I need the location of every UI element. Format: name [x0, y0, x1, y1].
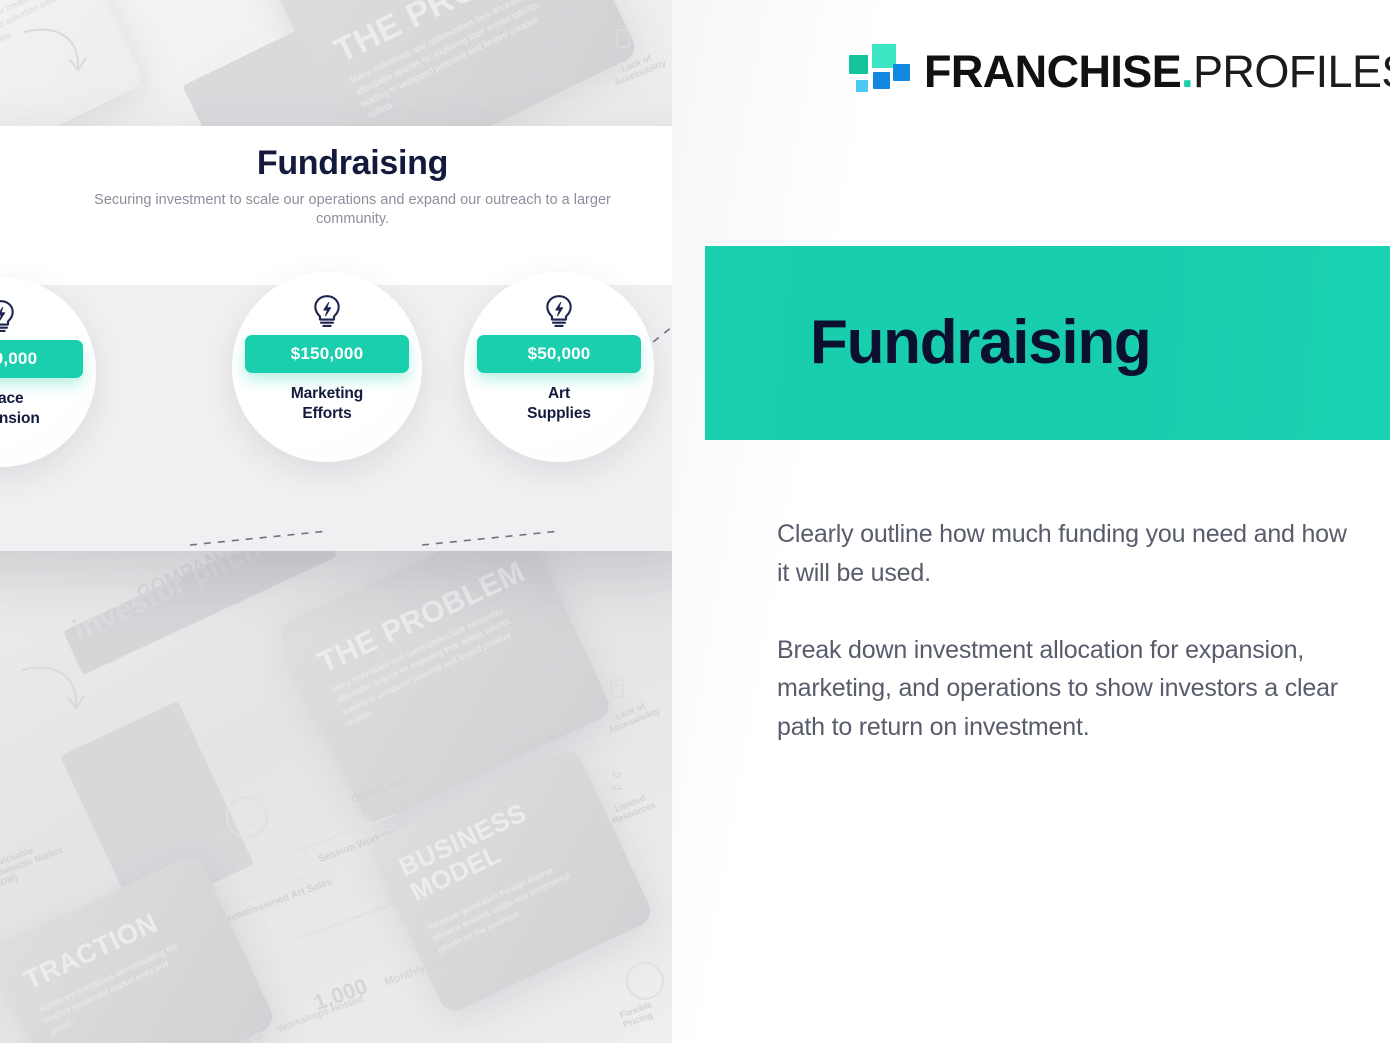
left-visual-panel: THE PROBLEM Many individuals and communi… — [0, 0, 672, 1043]
funding-label-line2: Expansion — [0, 410, 40, 427]
background-label: Serviceable Obtainable Market (SOM) — [0, 832, 78, 891]
funding-node[interactable]: $50,000 Art Supplies — [464, 272, 654, 462]
metric-label: Workshops Hosted — [276, 994, 365, 1035]
lightbulb-bolt-icon — [0, 299, 16, 333]
curved-arrow-icon — [18, 660, 88, 720]
funding-label-line1: Marketing — [291, 385, 363, 402]
accessibility-icon — [606, 678, 628, 705]
funding-amount: $50,000 — [477, 335, 641, 373]
page-title: Fundraising — [810, 312, 1150, 374]
brand-wordmark: FRANCHISE.PROFILES — [924, 49, 1390, 94]
funding-label-line1: Space — [0, 390, 24, 407]
background-divider — [299, 899, 403, 939]
slide-preview-stage: THE PROBLEM Many individuals and communi… — [0, 0, 1390, 1043]
node-row: $150,000 Space Expansion — [0, 126, 672, 551]
funding-label-line2: Efforts — [302, 405, 351, 422]
lightbulb-bolt-icon — [312, 294, 342, 328]
paragraph-1: Clearly outline how much funding you nee… — [777, 515, 1357, 593]
funding-label-line1: Art — [548, 385, 570, 402]
funding-label-line2: Supplies — [527, 405, 591, 422]
right-content-panel: FRANCHISE.PROFILES Fundraising Clearly o… — [672, 0, 1390, 1043]
franchise-profiles-squares-logo — [848, 42, 906, 100]
brand-name-dot: . — [1181, 46, 1193, 97]
brand-lockup: FRANCHISE.PROFILES — [848, 42, 1390, 100]
headline-band: Fundraising — [705, 246, 1390, 440]
funding-node[interactable]: $150,000 Space Expansion — [0, 277, 96, 467]
pricing-icon — [626, 962, 664, 1000]
funding-label: Marketing Efforts — [291, 384, 363, 424]
body-copy: Clearly outline how much funding you nee… — [777, 515, 1357, 747]
accessibility-icon — [612, 28, 634, 55]
hourglass-icon — [606, 770, 628, 797]
coin-icon — [226, 796, 268, 838]
curved-arrow-icon — [20, 22, 90, 82]
funding-amount: $150,000 — [245, 335, 409, 373]
funding-label: Space Expansion — [0, 389, 40, 429]
paragraph-2: Break down investment allocation for exp… — [777, 631, 1357, 747]
brand-name-light: PROFILES — [1193, 46, 1390, 97]
funding-node[interactable]: $150,000 Marketing Efforts — [232, 272, 422, 462]
fundraising-slide-card: Fundraising Securing investment to scale… — [0, 126, 672, 551]
lightbulb-bolt-icon — [544, 294, 574, 328]
funding-label: Art Supplies — [527, 384, 591, 424]
brand-name-bold: FRANCHISE — [924, 46, 1181, 97]
funding-amount: $150,000 — [0, 340, 83, 378]
